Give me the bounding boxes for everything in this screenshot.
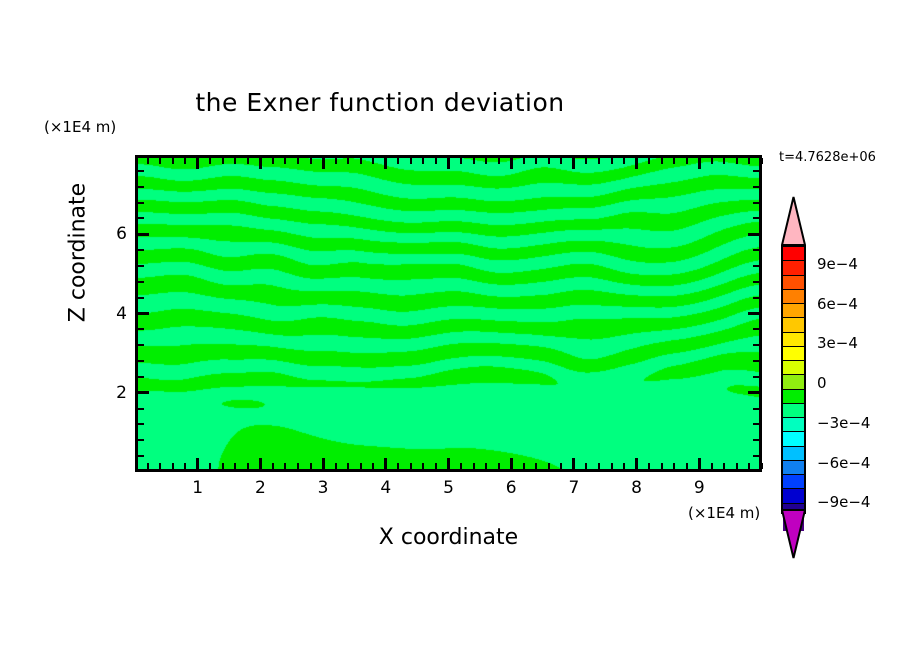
x-tick-label: 6 [491, 478, 531, 498]
colorbar-band [783, 276, 804, 290]
x-tick-minor [485, 463, 487, 469]
contour-field-canvas [138, 158, 762, 472]
x-tick-minor-top [673, 158, 675, 164]
y-tick-minor-right [753, 328, 759, 330]
x-tick-major [510, 458, 513, 469]
y-tick-major [138, 233, 149, 236]
y-tick-minor [138, 328, 144, 330]
time-annotation: t=4.7628e+06 [779, 150, 876, 165]
x-tick-minor-top [548, 158, 550, 164]
x-tick-minor-top [686, 158, 688, 164]
colorbar-tick-label: 3e−4 [817, 334, 858, 352]
x-tick-minor [611, 463, 613, 469]
colorbar-band [783, 475, 804, 489]
x-tick-minor [535, 463, 537, 469]
x-tick-minor-top [585, 158, 587, 164]
x-tick-minor-top [184, 158, 186, 164]
x-tick-major [698, 458, 701, 469]
x-tick-minor [560, 463, 562, 469]
x-tick-minor-top [460, 158, 462, 164]
x-tick-label: 1 [178, 478, 218, 498]
y-tick-label: 4 [87, 304, 127, 324]
y-tick-minor [138, 249, 144, 251]
y-tick-minor [138, 423, 144, 425]
x-tick-minor-top [172, 158, 174, 164]
x-tick-major [196, 458, 199, 469]
y-tick-minor [138, 439, 144, 441]
x-tick-minor-top [347, 158, 349, 164]
x-tick-minor-top [297, 158, 299, 164]
colorbar-band [783, 390, 804, 404]
x-tick-minor [435, 463, 437, 469]
colorbar-tick-label: 9e−4 [817, 255, 858, 273]
y-tick-minor-right [753, 360, 759, 362]
x-tick-minor-top [736, 158, 738, 164]
x-tick-label: 9 [679, 478, 719, 498]
y-tick-minor [138, 408, 144, 410]
y-tick-minor [138, 217, 144, 219]
x-tick-major-top [635, 158, 638, 169]
x-tick-minor [761, 463, 763, 469]
y-tick-minor-right [753, 186, 759, 188]
y-tick-minor [138, 455, 144, 457]
x-tick-minor [548, 463, 550, 469]
y-axis-unit-label: (×1E4 m) [44, 118, 116, 136]
x-tick-minor [585, 463, 587, 469]
x-tick-major-top [698, 158, 701, 169]
x-tick-major [447, 458, 450, 469]
x-tick-minor [347, 463, 349, 469]
x-tick-minor [661, 463, 663, 469]
colorbar-band [783, 489, 804, 503]
colorbar-bottom-arrow-icon [781, 509, 806, 559]
y-tick-minor-right [753, 439, 759, 441]
x-tick-minor [648, 463, 650, 469]
colorbar-bands [781, 245, 806, 514]
x-tick-minor [184, 463, 186, 469]
x-tick-label: 8 [617, 478, 657, 498]
x-tick-minor-top [247, 158, 249, 164]
x-tick-minor [310, 463, 312, 469]
y-tick-minor-right [753, 217, 759, 219]
x-tick-minor-top [234, 158, 236, 164]
x-tick-minor [711, 463, 713, 469]
y-tick-minor [138, 265, 144, 267]
y-tick-minor-right [753, 249, 759, 251]
x-tick-minor [335, 463, 337, 469]
x-tick-minor-top [535, 158, 537, 164]
x-tick-minor [397, 463, 399, 469]
x-tick-minor [209, 463, 211, 469]
x-tick-minor-top [661, 158, 663, 164]
y-tick-minor-right [753, 408, 759, 410]
x-tick-minor-top [648, 158, 650, 164]
y-tick-minor [138, 281, 144, 283]
y-tick-minor [138, 360, 144, 362]
x-tick-minor-top [159, 158, 161, 164]
x-tick-label: 7 [554, 478, 594, 498]
x-tick-major-top [196, 158, 199, 169]
colorbar-band [783, 361, 804, 375]
colorbar-band [783, 304, 804, 318]
x-tick-label: 2 [240, 478, 280, 498]
x-tick-minor-top [284, 158, 286, 164]
x-tick-minor [686, 463, 688, 469]
colorbar-band [783, 461, 804, 475]
x-tick-minor-top [611, 158, 613, 164]
x-tick-minor-top [723, 158, 725, 164]
colorbar-top-arrow-icon [781, 196, 806, 246]
x-tick-minor [410, 463, 412, 469]
colorbar-band [783, 418, 804, 432]
x-tick-minor [736, 463, 738, 469]
x-tick-minor-top [397, 158, 399, 164]
x-tick-minor-top [272, 158, 274, 164]
x-tick-minor-top [410, 158, 412, 164]
x-tick-minor-top [372, 158, 374, 164]
y-tick-minor-right [753, 265, 759, 267]
y-tick-minor [138, 202, 144, 204]
y-tick-minor [138, 344, 144, 346]
colorbar-tick-label: −6e−4 [817, 454, 870, 472]
x-tick-minor [234, 463, 236, 469]
y-tick-major-right [748, 312, 759, 315]
x-tick-label: 4 [366, 478, 406, 498]
y-tick-minor-right [753, 281, 759, 283]
colorbar-tick-label: 6e−4 [817, 295, 858, 313]
y-tick-minor-right [753, 376, 759, 378]
x-tick-minor-top [485, 158, 487, 164]
y-tick-major [138, 391, 149, 394]
x-tick-minor [159, 463, 161, 469]
x-tick-major-top [447, 158, 450, 169]
colorbar-band [783, 290, 804, 304]
x-tick-major [572, 458, 575, 469]
x-tick-minor-top [360, 158, 362, 164]
x-tick-minor [284, 463, 286, 469]
x-tick-minor-top [560, 158, 562, 164]
y-tick-minor-right [753, 170, 759, 172]
x-tick-label: 5 [429, 478, 469, 498]
y-tick-major-right [748, 391, 759, 394]
y-tick-minor [138, 170, 144, 172]
colorbar-tick-label: −3e−4 [817, 414, 870, 432]
x-tick-minor-top [310, 158, 312, 164]
colorbar-band [783, 375, 804, 389]
x-tick-minor-top [711, 158, 713, 164]
page-title: the Exner function deviation [0, 88, 760, 117]
y-tick-major-right [748, 233, 759, 236]
x-tick-major [384, 458, 387, 469]
x-tick-minor [360, 463, 362, 469]
colorbar-band [783, 318, 804, 332]
x-tick-major-top [384, 158, 387, 169]
x-tick-minor-top [748, 158, 750, 164]
y-tick-minor [138, 186, 144, 188]
y-tick-minor-right [753, 344, 759, 346]
x-tick-minor-top [335, 158, 337, 164]
y-tick-minor-right [753, 455, 759, 457]
x-tick-minor [222, 463, 224, 469]
x-tick-minor [473, 463, 475, 469]
x-tick-minor [723, 463, 725, 469]
colorbar-band [783, 404, 804, 418]
x-tick-minor [673, 463, 675, 469]
y-tick-minor-right [753, 202, 759, 204]
y-tick-minor-right [753, 423, 759, 425]
colorbar-band [783, 347, 804, 361]
x-tick-major-top [322, 158, 325, 169]
x-tick-minor [623, 463, 625, 469]
x-tick-minor [172, 463, 174, 469]
x-tick-minor-top [435, 158, 437, 164]
x-tick-minor-top [523, 158, 525, 164]
x-tick-major [635, 458, 638, 469]
x-tick-minor [460, 463, 462, 469]
x-tick-minor [372, 463, 374, 469]
colorbar-band [783, 432, 804, 446]
x-tick-minor [147, 463, 149, 469]
x-tick-minor-top [473, 158, 475, 164]
x-tick-major-top [572, 158, 575, 169]
x-axis-title: X coordinate [135, 525, 762, 550]
x-tick-minor-top [761, 158, 763, 164]
x-tick-minor-top [598, 158, 600, 164]
colorbar-tick-label: −9e−4 [817, 493, 870, 511]
x-tick-minor-top [623, 158, 625, 164]
y-tick-minor-right [753, 297, 759, 299]
x-tick-minor-top [209, 158, 211, 164]
colorbar-tick-label: 0 [817, 374, 827, 392]
x-tick-major-top [510, 158, 513, 169]
x-tick-minor [247, 463, 249, 469]
x-tick-minor [297, 463, 299, 469]
colorbar-band [783, 261, 804, 275]
x-axis-unit-label: (×1E4 m) [688, 504, 760, 522]
x-tick-minor [523, 463, 525, 469]
x-tick-minor-top [422, 158, 424, 164]
x-tick-major [322, 458, 325, 469]
x-tick-major [259, 458, 262, 469]
x-tick-minor-top [147, 158, 149, 164]
x-tick-minor-top [222, 158, 224, 164]
y-tick-minor [138, 376, 144, 378]
colorbar-band [783, 333, 804, 347]
x-tick-minor [422, 463, 424, 469]
colorbar-band [783, 447, 804, 461]
x-tick-minor [498, 463, 500, 469]
x-tick-minor [748, 463, 750, 469]
x-tick-minor [598, 463, 600, 469]
y-tick-minor [138, 297, 144, 299]
x-tick-minor [272, 463, 274, 469]
x-tick-label: 3 [303, 478, 343, 498]
y-tick-label: 2 [87, 383, 127, 403]
contour-plot-area [135, 155, 762, 472]
x-tick-major-top [259, 158, 262, 169]
y-tick-major [138, 312, 149, 315]
colorbar-band [783, 247, 804, 261]
y-tick-label: 6 [87, 224, 127, 244]
x-tick-minor-top [498, 158, 500, 164]
